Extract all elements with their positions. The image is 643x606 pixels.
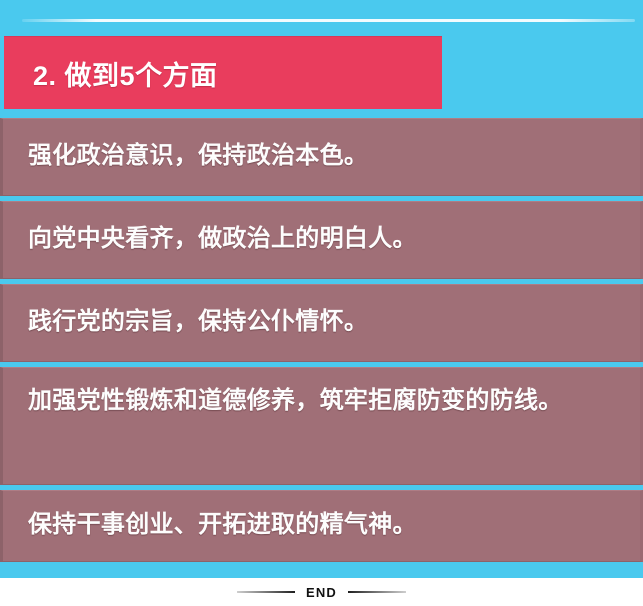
list-item: 保持干事创业、开拓进取的精气神。	[0, 490, 643, 562]
list-item: 加强党性锻炼和道德修养，筑牢拒腐防变的防线。	[0, 367, 643, 485]
list-item-text: 保持干事创业、开拓进取的精气神。	[28, 506, 417, 545]
list-item: 践行党的宗旨，保持公仆情怀。	[0, 284, 643, 362]
end-rule-right-icon	[348, 591, 406, 593]
slide-body: 2. 做到5个方面 强化政治意识，保持政治本色。 向党中央看齐，做政治上的明白人…	[0, 0, 643, 578]
list-item-text: 践行党的宗旨，保持公仆情怀。	[28, 303, 368, 342]
top-divider-rule	[22, 19, 635, 22]
list-item-text: 向党中央看齐，做政治上的明白人。	[28, 220, 417, 259]
end-label: END	[306, 585, 337, 600]
statement-list: 强化政治意识，保持政治本色。 向党中央看齐，做政治上的明白人。 践行党的宗旨，保…	[0, 118, 643, 567]
section-heading-text: 2. 做到5个方面	[4, 54, 218, 93]
list-item: 向党中央看齐，做政治上的明白人。	[0, 201, 643, 279]
list-item: 强化政治意识，保持政治本色。	[0, 118, 643, 196]
slide-poster: 2. 做到5个方面 强化政治意识，保持政治本色。 向党中央看齐，做政治上的明白人…	[0, 0, 643, 606]
end-footer: END	[0, 578, 643, 606]
list-item-text: 加强党性锻炼和道德修养，筑牢拒腐防变的防线。	[28, 382, 563, 421]
end-rule-left-icon	[237, 591, 295, 593]
list-item-text: 强化政治意识，保持政治本色。	[28, 137, 368, 176]
section-heading-banner: 2. 做到5个方面	[4, 36, 442, 109]
